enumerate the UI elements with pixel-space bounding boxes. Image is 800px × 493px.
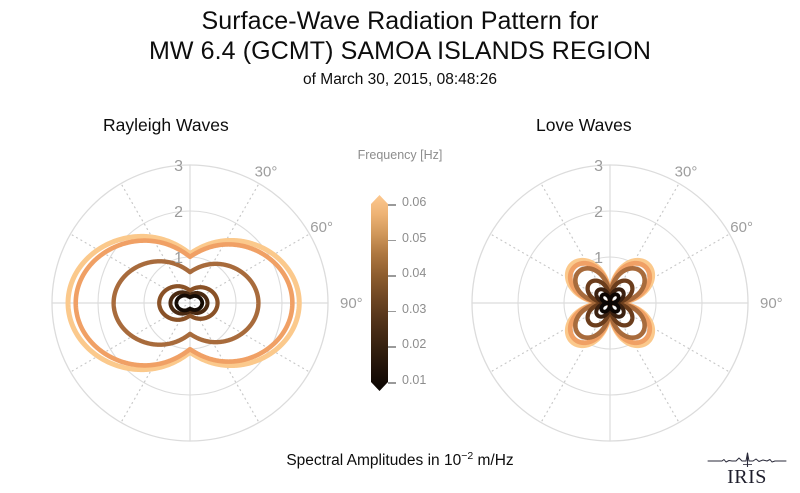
colorbar-tick-label: 0.02: [402, 337, 426, 351]
radial-tick-label: 2: [174, 204, 183, 221]
iris-wordmark: IRIS: [727, 466, 767, 488]
colorbar-tick: 0.03: [388, 311, 468, 312]
radial-tick-label: 3: [594, 158, 603, 175]
colorbar-tick-label: 0.04: [402, 266, 426, 280]
colorbar-title: Frequency [Hz]: [330, 148, 470, 162]
colorbar-tick: 0.01: [388, 382, 468, 383]
iris-logo: IRIS: [706, 449, 788, 489]
figure-caption: Spectral Amplitudes in 10−2 m/Hz: [0, 450, 800, 470]
radial-tick-label: 1: [174, 250, 183, 267]
colorbar-tick-mark: [388, 311, 396, 313]
colorbar-tick-mark: [388, 275, 396, 277]
caption-text: Spectral Amplitudes in 10: [286, 452, 461, 469]
colorbar-tick-label: 0.06: [402, 195, 426, 209]
radial-tick-label: 1: [594, 250, 603, 267]
colorbar-tick: 0.05: [388, 240, 468, 241]
colorbar-tick: 0.04: [388, 275, 468, 276]
caption-units: m/Hz: [473, 452, 513, 469]
figure-canvas: Surface-Wave Radiation Pattern for MW 6.…: [0, 0, 800, 493]
colorbar-tick-mark: [388, 346, 396, 348]
colorbar-tick-label: 0.01: [402, 373, 426, 387]
seismogram-icon: [708, 453, 786, 467]
angular-tick-label: 30°: [675, 163, 698, 180]
rayleigh-polar-grid: [52, 165, 328, 441]
angular-tick-label: 30°: [255, 163, 278, 180]
radial-tick-label: 3: [174, 158, 183, 175]
radial-tick-label: 2: [594, 204, 603, 221]
colorbar-tick: 0.02: [388, 346, 468, 347]
colorbar-tick-label: 0.03: [402, 302, 426, 316]
colorbar: Frequency [Hz]: [330, 148, 470, 408]
angular-tick-label: 90°: [760, 295, 783, 312]
colorbar-body: [371, 195, 388, 391]
angular-tick-label: 60°: [730, 219, 753, 236]
colorbar-gradient: [371, 195, 388, 391]
colorbar-tick-mark: [388, 382, 396, 384]
radiation-contour: [601, 294, 618, 311]
colorbar-tick-mark: [388, 204, 396, 206]
colorbar-tick-mark: [388, 240, 396, 242]
colorbar-tick-label: 0.05: [402, 231, 426, 245]
caption-exponent: −2: [461, 450, 473, 462]
colorbar-tick: 0.06: [388, 204, 468, 205]
